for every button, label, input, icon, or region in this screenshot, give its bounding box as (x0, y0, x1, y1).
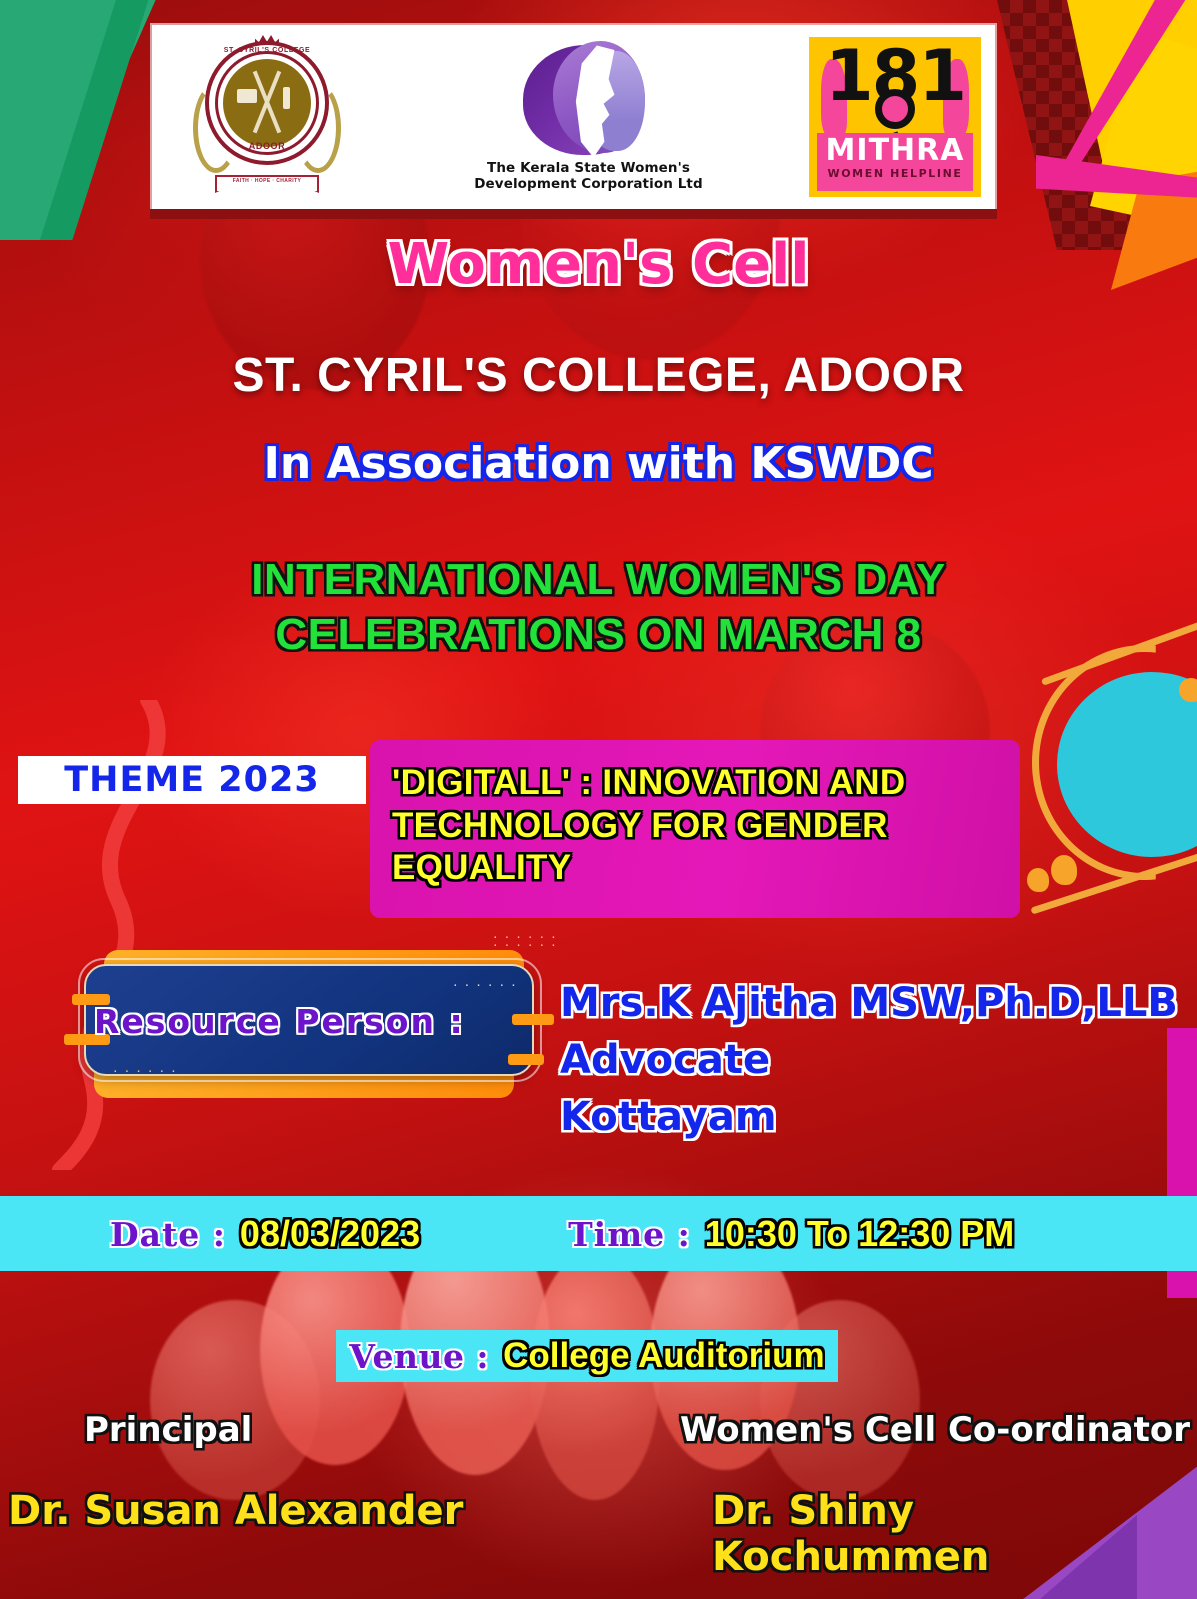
association-line: In Association with KSWDC (0, 438, 1197, 489)
corner-checker-pattern-icon (997, 0, 1197, 250)
resource-person-label: Resource Person : (94, 1002, 544, 1041)
resource-person-badge: ············ ······ ······ Resource Pers… (72, 950, 552, 1090)
event-heading-line2: CELEBRATIONS ON MARCH 8 (0, 607, 1197, 662)
college-seal-icon: ST. CYRIL'S COLLEGE ADOOR FAITH · HOPE ·… (187, 33, 347, 201)
mithra-subtitle: WOMEN HELPLINE (817, 167, 973, 180)
resource-person-place: Kottayam (560, 1089, 1190, 1146)
book-icon (237, 89, 257, 103)
badge-dots-icon: ······ (452, 982, 522, 990)
event-heading: INTERNATIONAL WOMEN'S DAY CELEBRATIONS O… (0, 552, 1197, 662)
theme-label-text: THEME 2023 (64, 760, 319, 800)
badge-tab-icon (508, 1054, 544, 1065)
corner-streak-pink-icon (997, 0, 1187, 175)
helpline-hands-icon: 181 MITHRA WOMEN HELPLINE (809, 37, 981, 197)
signatory-role-principal: Principal (84, 1410, 252, 1450)
orange-dot-icon (1179, 678, 1197, 702)
badge-dots-icon: ······ (112, 1068, 182, 1076)
venus-symbol-icon (875, 89, 915, 129)
mithra-helpline-logo: 181 MITHRA WOMEN HELPLINE (795, 25, 995, 209)
date-value: 08/03/2023 (240, 1213, 420, 1255)
torch-icon (283, 87, 290, 109)
ring-arc-icon (1032, 645, 1197, 880)
seal-ring-top-text: ST. CYRIL'S COLLEGE (187, 47, 347, 54)
kswdc-caption: The Kerala State Women's Development Cor… (474, 161, 703, 192)
date-time-strip: Date : 08/03/2023 Time : 10:30 To 12:30 … (0, 1196, 1197, 1271)
logo-strip: ST. CYRIL'S COLLEGE ADOOR FAITH · HOPE ·… (152, 25, 995, 209)
event-heading-line1: INTERNATIONAL WOMEN'S DAY (0, 552, 1197, 607)
time-group: Time : 10:30 To 12:30 PM (568, 1213, 1014, 1255)
cyan-circle-icon (1057, 672, 1197, 857)
kswdc-logo: The Kerala State Women's Development Cor… (382, 41, 795, 192)
seal-ring-bottom-text: ADOOR (187, 141, 347, 151)
date-label: Date : (110, 1215, 226, 1254)
orange-dot-icon (1027, 868, 1049, 892)
corner-shape-green-icon (0, 0, 160, 240)
woman-profile-icon (523, 41, 655, 159)
seal-banner-text: FAITH · HOPE · CHARITY (215, 178, 319, 184)
mithra-name-band: MITHRA WOMEN HELPLINE (817, 133, 973, 191)
balloon-shape-icon (150, 1300, 320, 1500)
theme-label-box: THEME 2023 (18, 756, 366, 804)
signatory-name-principal: Dr. Susan Alexander (8, 1488, 463, 1534)
signatory-role-coordinator: Women's Cell Co-ordinator (680, 1410, 1190, 1450)
orange-dot-icon (1051, 855, 1077, 885)
corner-shape-yellow-icon (1042, 30, 1197, 230)
theme-box: 'DIGITALL' : INNOVATION AND TECHNOLOGY F… (370, 740, 1020, 918)
time-label: Time : (568, 1215, 691, 1254)
kswdc-caption-line1: The Kerala State Women's (474, 161, 703, 177)
time-value: 10:30 To 12:30 PM (705, 1213, 1014, 1255)
college-seal-logo: ST. CYRIL'S COLLEGE ADOOR FAITH · HOPE ·… (152, 25, 382, 209)
venue-box: Venue : College Auditorium (336, 1330, 838, 1382)
mithra-name: MITHRA (817, 133, 973, 167)
resource-person-designation: Advocate (560, 1032, 1190, 1089)
date-group: Date : 08/03/2023 (110, 1213, 420, 1255)
badge-dots-icon: ············ (492, 934, 562, 950)
kswdc-caption-line2: Development Corporation Ltd (474, 177, 703, 193)
venue-label: Venue : (349, 1337, 489, 1376)
venue-value: College Auditorium (503, 1336, 824, 1376)
college-name-heading: ST. CYRIL'S COLLEGE, ADOOR (0, 348, 1197, 403)
event-poster: ST. CYRIL'S COLLEGE ADOOR FAITH · HOPE ·… (0, 0, 1197, 1599)
corner-streak-pink-icon (1017, 155, 1197, 215)
theme-text: 'DIGITALL' : INNOVATION AND TECHNOLOGY F… (392, 762, 1002, 890)
resource-person-name: Mrs.K Ajitha MSW,Ph.D,LLB (560, 975, 1190, 1032)
signatory-name-coordinator: Dr. Shiny Kochummen (712, 1488, 1197, 1580)
ring-line-icon (1030, 852, 1197, 914)
resource-person-details: Mrs.K Ajitha MSW,Ph.D,LLB Advocate Kotta… (560, 975, 1190, 1145)
womens-cell-title: Women's Cell (0, 232, 1197, 297)
corner-shape-yellow-icon (1022, 0, 1197, 210)
